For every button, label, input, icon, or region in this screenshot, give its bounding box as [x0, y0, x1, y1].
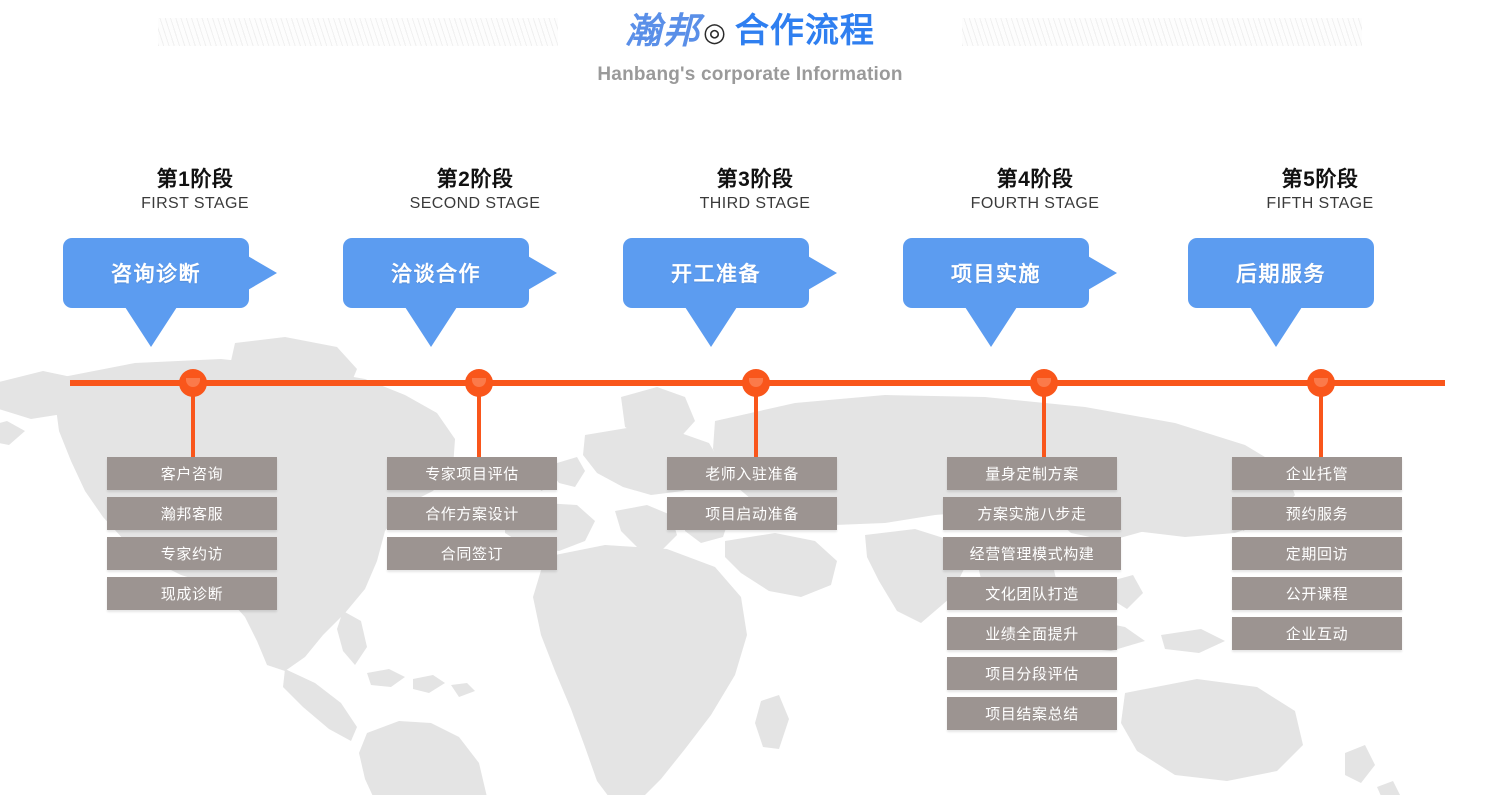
list-item-label: 项目分段评估 [985, 663, 1079, 684]
list-item[interactable]: 专家项目评估 [387, 457, 557, 490]
brand-name-cn: 瀚邦 [625, 8, 701, 54]
arrow-right-icon [801, 252, 837, 294]
stage-item-list: 客户咨询瀚邦客服专家约访现成诊断 [55, 457, 335, 617]
list-item-label: 经营管理模式构建 [970, 543, 1095, 564]
stage-title-en: SECOND STAGE [335, 195, 615, 213]
stage-title-en: FIRST STAGE [55, 195, 335, 213]
stage-title-cn: 第5阶段 [1180, 163, 1460, 193]
bubble-tail-icon [685, 307, 737, 347]
list-item-label: 方案实施八步走 [977, 503, 1086, 524]
list-item[interactable]: 项目分段评估 [947, 657, 1117, 690]
list-item[interactable]: 老师入驻准备 [667, 457, 837, 490]
list-item-label: 合作方案设计 [425, 503, 519, 524]
arrow-right-icon [1081, 252, 1117, 294]
list-item[interactable]: 方案实施八步走 [943, 497, 1121, 530]
list-item-label: 公开课程 [1286, 583, 1348, 604]
stage-title-cn: 第3阶段 [615, 163, 895, 193]
bubble-tail-icon [125, 307, 177, 347]
stage-bubble-wrap: 洽谈合作 [335, 238, 615, 348]
list-item[interactable]: 预约服务 [1232, 497, 1402, 530]
stage-title-cn: 第4阶段 [895, 163, 1175, 193]
bubble-tail-icon [965, 307, 1017, 347]
list-item-label: 项目结案总结 [985, 703, 1079, 724]
list-item[interactable]: 企业互动 [1232, 617, 1402, 650]
list-item[interactable]: 定期回访 [1232, 537, 1402, 570]
arrow-right-icon [241, 252, 277, 294]
stage-title-cn: 第2阶段 [335, 163, 615, 193]
stage-bubble-label: 项目实施 [951, 258, 1041, 288]
list-item-label: 文化团队打造 [985, 583, 1079, 604]
infographic-canvas: 瀚邦 ◎ 合作流程 Hanbang's corporate Informatio… [0, 0, 1500, 795]
page-title-text: 合作流程 [735, 8, 875, 54]
stage-bubble-label: 洽谈合作 [391, 258, 481, 288]
stage-bubble[interactable]: 洽谈合作 [343, 238, 529, 308]
stage-bubble-label: 咨询诊断 [111, 258, 201, 288]
list-item-label: 专家项目评估 [425, 463, 519, 484]
list-item[interactable]: 文化团队打造 [947, 577, 1117, 610]
list-item[interactable]: 现成诊断 [107, 577, 277, 610]
list-item[interactable]: 项目结案总结 [947, 697, 1117, 730]
list-item-label: 老师入驻准备 [705, 463, 799, 484]
stage-bubble-label: 后期服务 [1236, 258, 1326, 288]
stage-bubble[interactable]: 后期服务 [1188, 238, 1374, 308]
timeline-node[interactable] [1307, 369, 1335, 397]
page-subtitle: Hanbang's corporate Information [0, 64, 1500, 86]
stage-item-list: 量身定制方案方案实施八步走经营管理模式构建文化团队打造业绩全面提升项目分段评估项… [895, 457, 1175, 737]
list-item-label: 预约服务 [1286, 503, 1348, 524]
title-block: 瀚邦 ◎ 合作流程 Hanbang's corporate Informatio… [0, 0, 1500, 86]
list-item-label: 现成诊断 [161, 583, 223, 604]
timeline-node[interactable] [179, 369, 207, 397]
list-item-label: 专家约访 [161, 543, 223, 564]
bubble-tail-icon [1250, 307, 1302, 347]
list-item[interactable]: 业绩全面提升 [947, 617, 1117, 650]
list-item-label: 企业托管 [1286, 463, 1348, 484]
stage-columns: 第1阶段FIRST STAGE咨询诊断客户咨询瀚邦客服专家约访现成诊断第2阶段S… [0, 0, 1500, 795]
stage-bubble[interactable]: 开工准备 [623, 238, 809, 308]
stage-bubble[interactable]: 项目实施 [903, 238, 1089, 308]
list-item-label: 瀚邦客服 [161, 503, 223, 524]
timeline-node[interactable] [742, 369, 770, 397]
stage-bubble-wrap: 咨询诊断 [55, 238, 335, 348]
bubble-tail-icon [405, 307, 457, 347]
list-item-label: 客户咨询 [161, 463, 223, 484]
list-item[interactable]: 客户咨询 [107, 457, 277, 490]
list-item-label: 合同签订 [441, 543, 503, 564]
list-item[interactable]: 合同签订 [387, 537, 557, 570]
stage-bubble-wrap: 项目实施 [895, 238, 1175, 348]
stage-item-list: 专家项目评估合作方案设计合同签订 [335, 457, 615, 577]
stage-item-list: 企业托管预约服务定期回访公开课程企业互动 [1180, 457, 1460, 657]
list-item[interactable]: 量身定制方案 [947, 457, 1117, 490]
timeline-node[interactable] [465, 369, 493, 397]
list-item[interactable]: 企业托管 [1232, 457, 1402, 490]
list-item-label: 业绩全面提升 [985, 623, 1079, 644]
stage-title-cn: 第1阶段 [55, 163, 335, 193]
stage-bubble[interactable]: 咨询诊断 [63, 238, 249, 308]
timeline-node[interactable] [1030, 369, 1058, 397]
stage-bubble-wrap: 后期服务 [1180, 238, 1460, 348]
list-item-label: 定期回访 [1286, 543, 1348, 564]
list-item[interactable]: 专家约访 [107, 537, 277, 570]
stage-bubble-wrap: 开工准备 [615, 238, 895, 348]
stage-title-en: FIFTH STAGE [1180, 195, 1460, 213]
list-item[interactable]: 公开课程 [1232, 577, 1402, 610]
list-item[interactable]: 瀚邦客服 [107, 497, 277, 530]
page-title: 瀚邦 ◎ 合作流程 [0, 0, 1500, 54]
stage-bubble-label: 开工准备 [671, 258, 761, 288]
arrow-right-icon [521, 252, 557, 294]
list-item[interactable]: 合作方案设计 [387, 497, 557, 530]
list-item-label: 项目启动准备 [705, 503, 799, 524]
stage-item-list: 老师入驻准备项目启动准备 [615, 457, 895, 537]
list-item-label: 企业互动 [1286, 623, 1348, 644]
brand-logo-icon: ◎ [703, 9, 727, 55]
list-item[interactable]: 项目启动准备 [667, 497, 837, 530]
list-item-label: 量身定制方案 [985, 463, 1079, 484]
page-header: 瀚邦 ◎ 合作流程 Hanbang's corporate Informatio… [0, 0, 1500, 105]
stage-title-en: THIRD STAGE [615, 195, 895, 213]
list-item[interactable]: 经营管理模式构建 [943, 537, 1121, 570]
stage-title-en: FOURTH STAGE [895, 195, 1175, 213]
